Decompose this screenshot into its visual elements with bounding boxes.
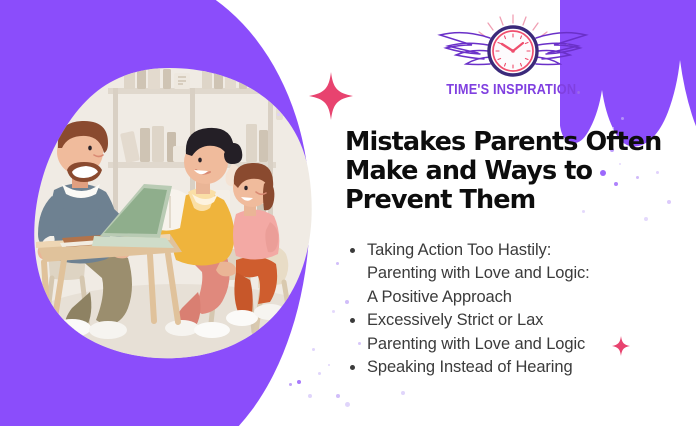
- logo-period-dot: [577, 91, 580, 94]
- headline-line-1: Mistakes Parents Often: [345, 128, 675, 157]
- list-item: Taking Action Too Hastily: Parenting wit…: [345, 239, 675, 309]
- page-title: Mistakes Parents Often Make and Ways to …: [345, 128, 675, 215]
- headline-line-2: Make and Ways to: [345, 157, 675, 186]
- four-point-star-icon: [612, 336, 630, 356]
- headline-line-3: Prevent Them: [345, 186, 675, 215]
- list-item: Speaking Instead of Hearing: [345, 356, 675, 379]
- four-point-star-icon: [309, 72, 353, 120]
- list-item-line: A Positive Approach: [367, 286, 675, 309]
- times-inspiration-logo[interactable]: TIME'S INSPIRATION: [424, 12, 602, 104]
- family-at-desk-illustration: [30, 66, 315, 362]
- mistakes-list: Taking Action Too Hastily: Parenting wit…: [345, 239, 675, 380]
- logo-brand-text: TIME'S INSPIRATION: [435, 82, 592, 98]
- list-item-line: Parenting with Love and Logic:: [367, 262, 675, 285]
- list-item-line: Taking Action Too Hastily:: [367, 239, 675, 262]
- poster-canvas: TIME'S INSPIRATION Mistakes Parents Ofte…: [0, 0, 696, 426]
- list-item-line: Excessively Strict or Lax: [367, 309, 675, 332]
- list-item-line: Speaking Instead of Hearing: [367, 356, 675, 379]
